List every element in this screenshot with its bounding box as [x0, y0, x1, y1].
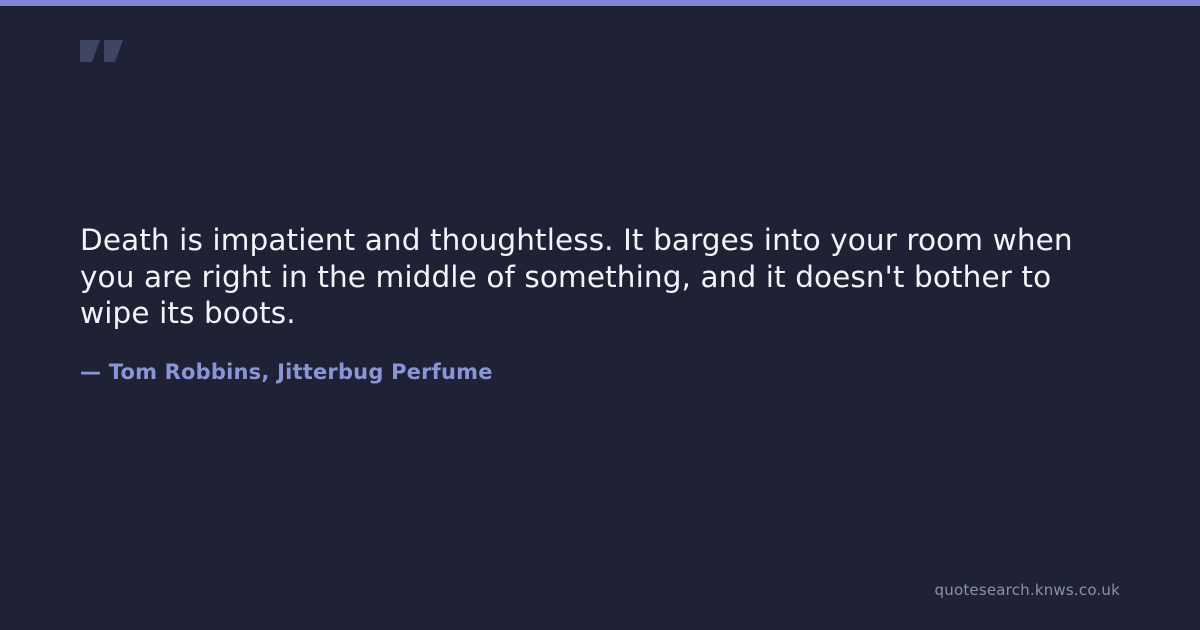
- quote-card: Death is impatient and thoughtless. It b…: [0, 0, 1200, 630]
- source-url-label: quotesearch.knws.co.uk: [935, 580, 1120, 600]
- quote-text: Death is impatient and thoughtless. It b…: [80, 222, 1090, 332]
- top-accent-bar: [0, 0, 1200, 6]
- quote-attribution: — Tom Robbins, Jitterbug Perfume: [80, 332, 1090, 386]
- quote-mark-icon: [78, 22, 138, 86]
- quote-body: Death is impatient and thoughtless. It b…: [80, 222, 1090, 386]
